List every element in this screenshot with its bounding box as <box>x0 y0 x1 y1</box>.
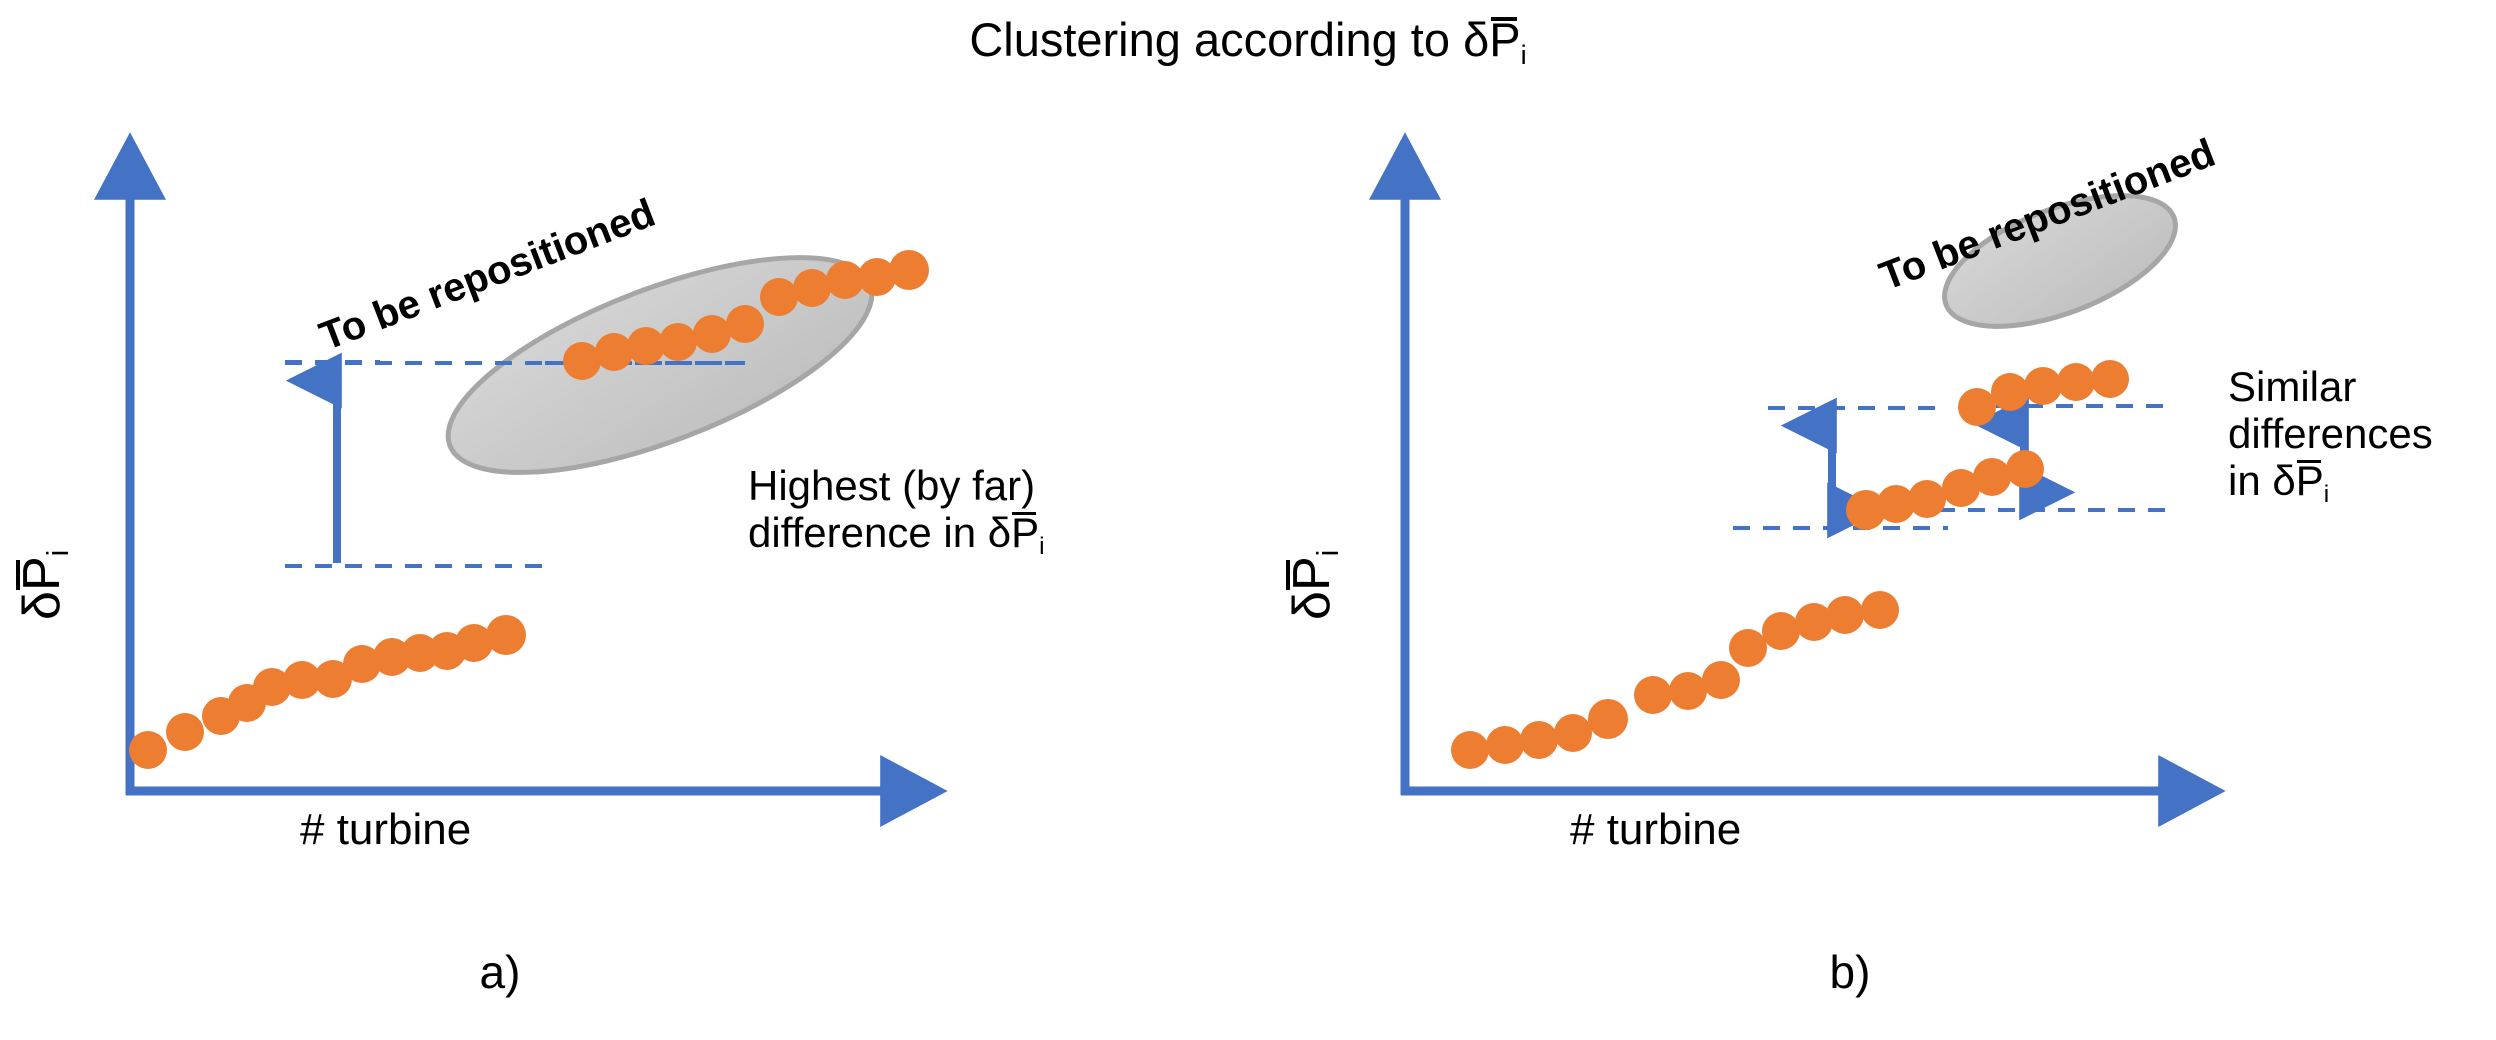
y-label-a-delta: δ <box>13 591 71 620</box>
title-delta: δ <box>1463 13 1489 66</box>
gap-annotation-a-line1: Highest (by far) <box>748 462 1045 509</box>
y-axis-label-a: δPi <box>12 550 76 620</box>
y-label-b-sub: i <box>1312 550 1346 557</box>
gap-annotation-b-line3: in δPi <box>2228 457 2433 509</box>
panel-letter-a: a) <box>440 945 560 999</box>
gap-annotation-b: Similar differences in δPi <box>2228 363 2433 509</box>
title-subscript: i <box>1521 40 1527 70</box>
y-axis-label-b: δPi <box>1282 550 1346 620</box>
figure-title-text: Clustering according to <box>969 13 1450 66</box>
data-markers-a-lower <box>129 615 526 769</box>
y-label-b-delta: δ <box>1283 591 1341 620</box>
panel-letter-b: b) <box>1790 945 1910 999</box>
annot-b-sub: i <box>2324 481 2329 508</box>
gap-annotation-b-line2: differences <box>2228 410 2433 457</box>
gap-annotation-b-line1: Similar <box>2228 363 2433 410</box>
figure-title: Clustering according to δPi <box>0 14 2496 70</box>
annot-a-sub: i <box>1039 533 1044 560</box>
gap-annotation-a-line2: difference in δPi <box>748 509 1045 561</box>
annot-b-delta: δ <box>2272 457 2295 504</box>
y-label-a-p: P <box>12 556 72 591</box>
gap-annotation-a: Highest (by far) difference in δPi <box>748 462 1045 561</box>
panel-b-plot <box>1248 95 2496 995</box>
x-axis-label-a: # turbine <box>300 805 471 855</box>
data-markers-b-upper <box>1958 360 2129 426</box>
title-math-symbol: δPi <box>1463 14 1527 70</box>
data-markers-b-lower <box>1451 591 1899 769</box>
figure-canvas: Clustering according to δPi <box>0 0 2496 1040</box>
title-p-bar: P <box>1489 14 1520 66</box>
x-axis-label-b: # turbine <box>1570 805 1741 855</box>
data-markers-b-middle <box>1846 450 2044 530</box>
annot-a-delta: δ <box>988 509 1011 556</box>
annot-a-p: P <box>1011 509 1039 556</box>
y-label-b-p: P <box>1282 556 1342 591</box>
annot-b-p: P <box>2296 457 2324 504</box>
y-label-a-sub: i <box>42 550 76 557</box>
